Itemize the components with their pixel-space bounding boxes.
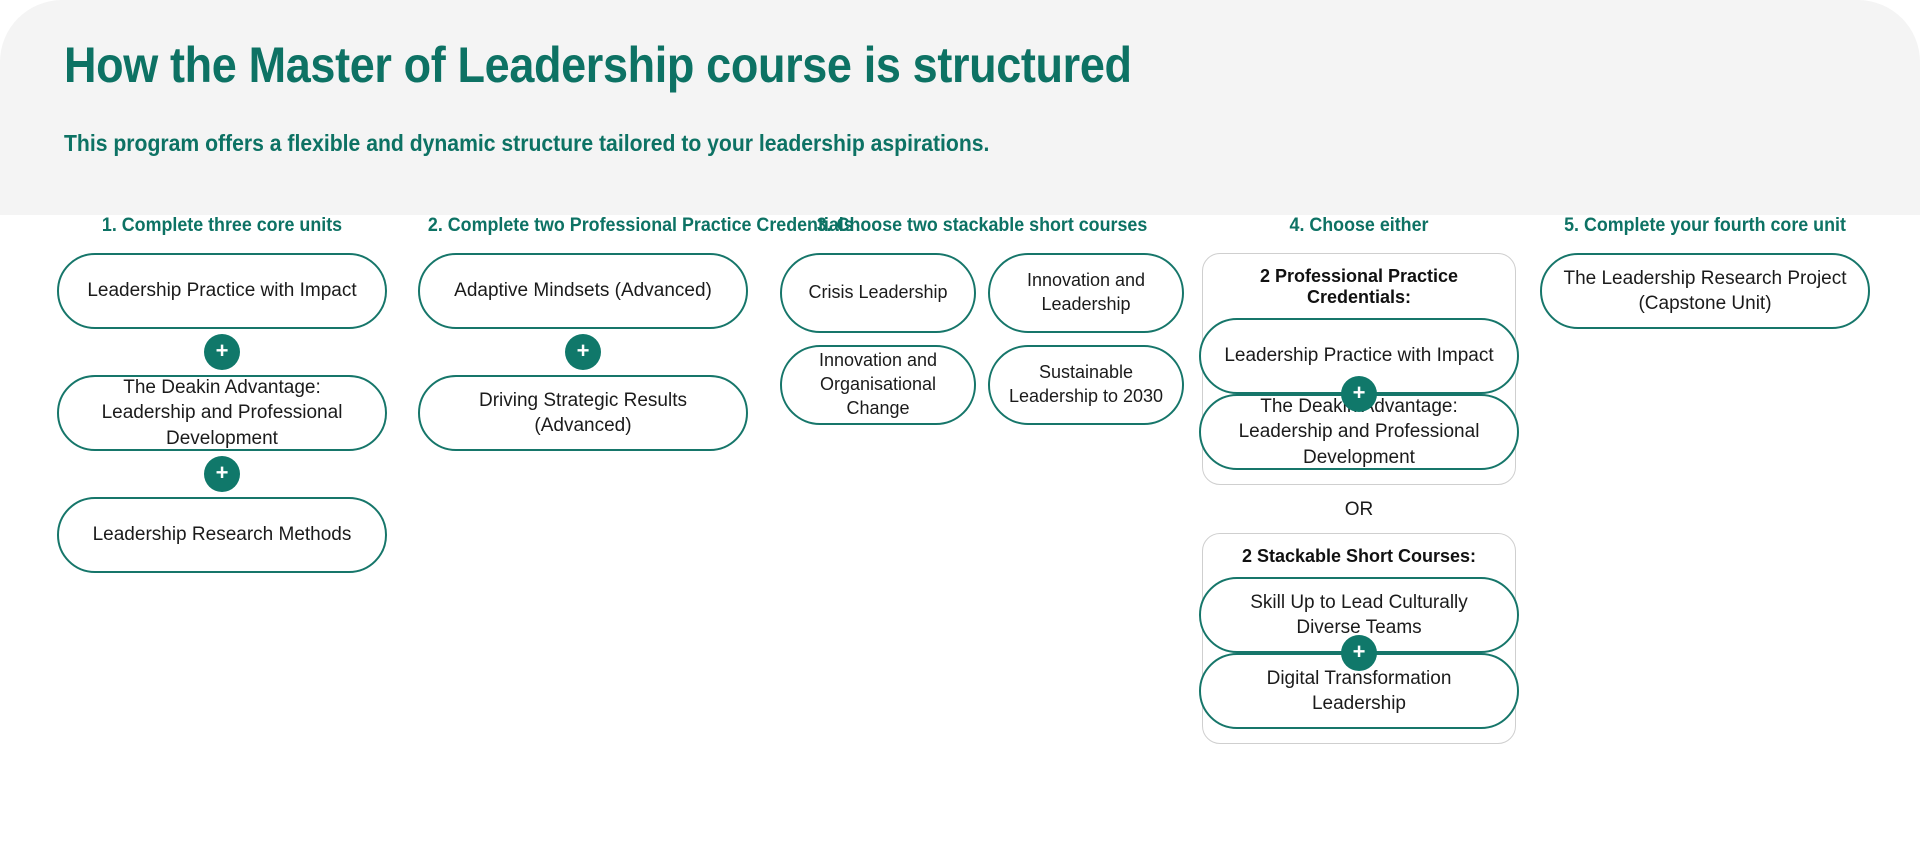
group-label: 2 Professional Practice Credentials: <box>1213 266 1505 308</box>
column-1-title: 1. Complete three core units <box>67 215 377 237</box>
pill-innovation-and-leadership[interactable]: Innovation and Leadership <box>988 253 1184 333</box>
pill-label: Sustainable Leadership to 2030 <box>1002 361 1170 409</box>
pill-label: Driving Strategic Results (Advanced) <box>438 388 728 439</box>
pill-label: Innovation and Organisational Change <box>794 349 962 421</box>
pill-leadership-research-project-capstone[interactable]: The Leadership Research Project (Capston… <box>1540 253 1870 329</box>
page-subtitle: This program offers a flexible and dynam… <box>64 130 989 157</box>
pill-label: Leadership Practice with Impact <box>87 278 356 303</box>
plus-icon: + <box>1341 376 1377 412</box>
plus-icon: + <box>1341 635 1377 671</box>
group-pills: Skill Up to Lead Culturally Diverse Team… <box>1199 577 1519 729</box>
plus-icon: + <box>565 334 601 370</box>
pill-label: Skill Up to Lead Culturally Diverse Team… <box>1219 590 1499 641</box>
connector-plus-1: + <box>57 329 387 375</box>
column-3-title: 3. Choose two stackable short courses <box>792 215 1172 237</box>
pill-label: Digital Transformation Leadership <box>1219 666 1499 717</box>
group-stackable-short-courses: 2 Stackable Short Courses: Skill Up to L… <box>1202 533 1516 744</box>
column-complete-three-core-units: 1. Complete three core units Leadership … <box>57 215 387 573</box>
pill-leadership-practice-with-impact[interactable]: Leadership Practice with Impact <box>57 253 387 329</box>
pill-deakin-advantage[interactable]: The Deakin Advantage: Leadership and Pro… <box>57 375 387 451</box>
pill-leadership-research-methods[interactable]: Leadership Research Methods <box>57 497 387 573</box>
short-courses-grid: Crisis Leadership Innovation and Leaders… <box>780 253 1184 425</box>
pill-label: The Deakin Advantage: Leadership and Pro… <box>77 375 367 451</box>
column-5-title: 5. Complete your fourth core unit <box>1550 215 1860 237</box>
plus-glyph: + <box>577 340 590 362</box>
pill-innovation-and-organisational-change[interactable]: Innovation and Organisational Change <box>780 345 976 425</box>
plus-glyph: + <box>1353 382 1366 404</box>
plus-icon: + <box>204 334 240 370</box>
plus-glyph: + <box>216 340 229 362</box>
pill-label: Innovation and Leadership <box>1002 269 1170 317</box>
column-4-title: 4. Choose either <box>1204 215 1514 237</box>
group-label: 2 Stackable Short Courses: <box>1213 546 1505 567</box>
pill-label: Crisis Leadership <box>808 281 947 305</box>
page-title: How the Master of Leadership course is s… <box>64 36 1132 94</box>
pill-label: Leadership Research Methods <box>93 522 352 547</box>
connector-plus-2: + <box>57 451 387 497</box>
course-structure-columns: 1. Complete three core units Leadership … <box>0 215 1920 862</box>
column-fourth-core-unit: 5. Complete your fourth core unit The Le… <box>1540 215 1870 329</box>
header-band: How the Master of Leadership course is s… <box>0 0 1920 215</box>
pill-label: The Leadership Research Project (Capston… <box>1560 266 1850 317</box>
plus-glyph: + <box>1353 641 1366 663</box>
pill-label: Adaptive Mindsets (Advanced) <box>454 278 712 303</box>
plus-icon: + <box>204 456 240 492</box>
group-pills: Leadership Practice with Impact + The De… <box>1199 318 1519 470</box>
pill-adaptive-mindsets-advanced[interactable]: Adaptive Mindsets (Advanced) <box>418 253 748 329</box>
connector-plus-3: + <box>418 329 748 375</box>
column-choose-either: 4. Choose either 2 Professional Practice… <box>1194 215 1524 744</box>
connector-plus-4: + <box>1199 376 1519 412</box>
pill-driving-strategic-results-advanced[interactable]: Driving Strategic Results (Advanced) <box>418 375 748 451</box>
column-2-title: 2. Complete two Professional Practice Cr… <box>428 215 738 237</box>
pill-crisis-leadership[interactable]: Crisis Leadership <box>780 253 976 333</box>
pill-label: Leadership Practice with Impact <box>1224 343 1493 368</box>
pill-sustainable-leadership-to-2030[interactable]: Sustainable Leadership to 2030 <box>988 345 1184 425</box>
column-professional-practice-credentials: 2. Complete two Professional Practice Cr… <box>418 215 748 451</box>
group-professional-practice-credentials: 2 Professional Practice Credentials: Lea… <box>1202 253 1516 485</box>
plus-glyph: + <box>216 462 229 484</box>
column-stackable-short-courses: 3. Choose two stackable short courses Cr… <box>780 215 1184 425</box>
or-separator: OR <box>1194 499 1524 521</box>
connector-plus-5: + <box>1199 635 1519 671</box>
